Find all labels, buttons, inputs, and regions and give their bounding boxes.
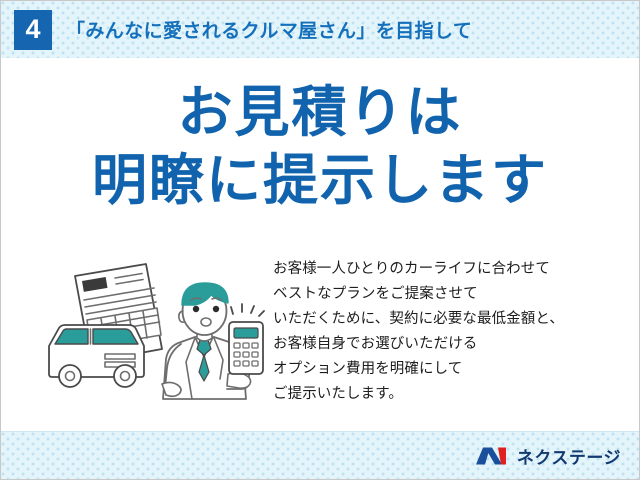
advertisement-page: 4 「みんなに愛されるクルマ屋さん」を目指して お見積りは 明瞭に提示します: [0, 0, 640, 480]
headline: お見積りは 明瞭に提示します: [1, 82, 639, 211]
body-line: ご提示いたします。: [273, 382, 564, 407]
footer-band: ネクステージ: [1, 431, 639, 479]
body-line: いただくために、契約に必要な最低金額と、: [273, 307, 564, 332]
main-content: お見積りは 明瞭に提示します: [1, 58, 639, 432]
body-line: ベストなプランをご提案させて: [273, 282, 564, 307]
body-line: オプション費用を明確にして: [273, 357, 564, 382]
illustration: [43, 254, 273, 414]
body-line: お客様自身でお選びいただける: [273, 332, 564, 357]
calculator-icon: [229, 304, 264, 374]
nextage-n-logo-icon: [476, 445, 510, 467]
header-content: 4 「みんなに愛されるクルマ屋さん」を目指して: [1, 1, 639, 58]
header-band: 4 「みんなに愛されるクルマ屋さん」を目指して: [1, 1, 639, 59]
van-icon: [49, 325, 144, 387]
headline-line-1: お見積りは: [1, 82, 639, 144]
headline-line-2: 明瞭に提示します: [1, 150, 639, 212]
brand-name: ネクステージ: [517, 443, 621, 468]
body-line: お客様一人ひとりのカーライフに合わせて: [273, 257, 564, 282]
step-number-badge: 4: [14, 10, 52, 50]
header-title: 「みんなに愛されるクルマ屋さん」を目指して: [66, 16, 472, 43]
body-paragraph: お客様一人ひとりのカーライフに合わせて ベストなプランをご提案させて いただくた…: [273, 257, 564, 407]
brand-logo: ネクステージ: [476, 443, 621, 468]
